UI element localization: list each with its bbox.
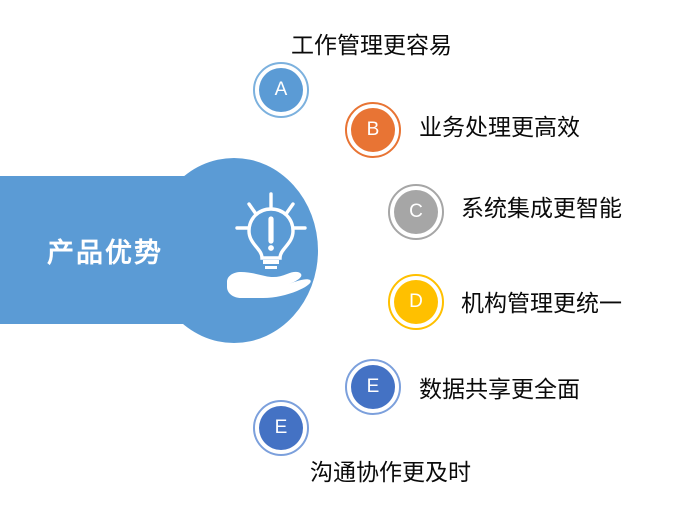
step-circle-a[interactable]: A <box>259 68 303 112</box>
step-circle-d[interactable]: D <box>394 280 438 324</box>
step-letter-c: C <box>409 201 423 223</box>
step-label-b: 业务处理更高效 <box>419 108 580 142</box>
step-circle-e-lower[interactable]: E <box>259 406 303 450</box>
step-circle-b[interactable]: B <box>351 108 395 152</box>
step-letter-b: B <box>367 119 380 141</box>
step-label-e-lower: 沟通协作更及时 <box>310 453 471 487</box>
step-label-e-upper: 数据共享更全面 <box>419 370 580 404</box>
diagram-canvas: 产品优势 A 工作管理更容易 B 业务处理更高效 C <box>0 0 673 515</box>
step-label-a: 工作管理更容易 <box>291 26 452 60</box>
banner-title: 产品优势 <box>0 176 210 324</box>
step-circle-e-upper[interactable]: E <box>351 365 395 409</box>
lightbulb-in-hand-icon <box>225 190 317 300</box>
step-letter-e-upper: E <box>367 376 380 398</box>
step-letter-d: D <box>409 291 423 313</box>
step-letter-e-lower: E <box>275 417 288 439</box>
step-letter-a: A <box>275 79 288 101</box>
step-circle-c[interactable]: C <box>394 190 438 234</box>
step-label-d: 机构管理更统一 <box>461 284 622 318</box>
step-label-c: 系统集成更智能 <box>461 189 622 223</box>
